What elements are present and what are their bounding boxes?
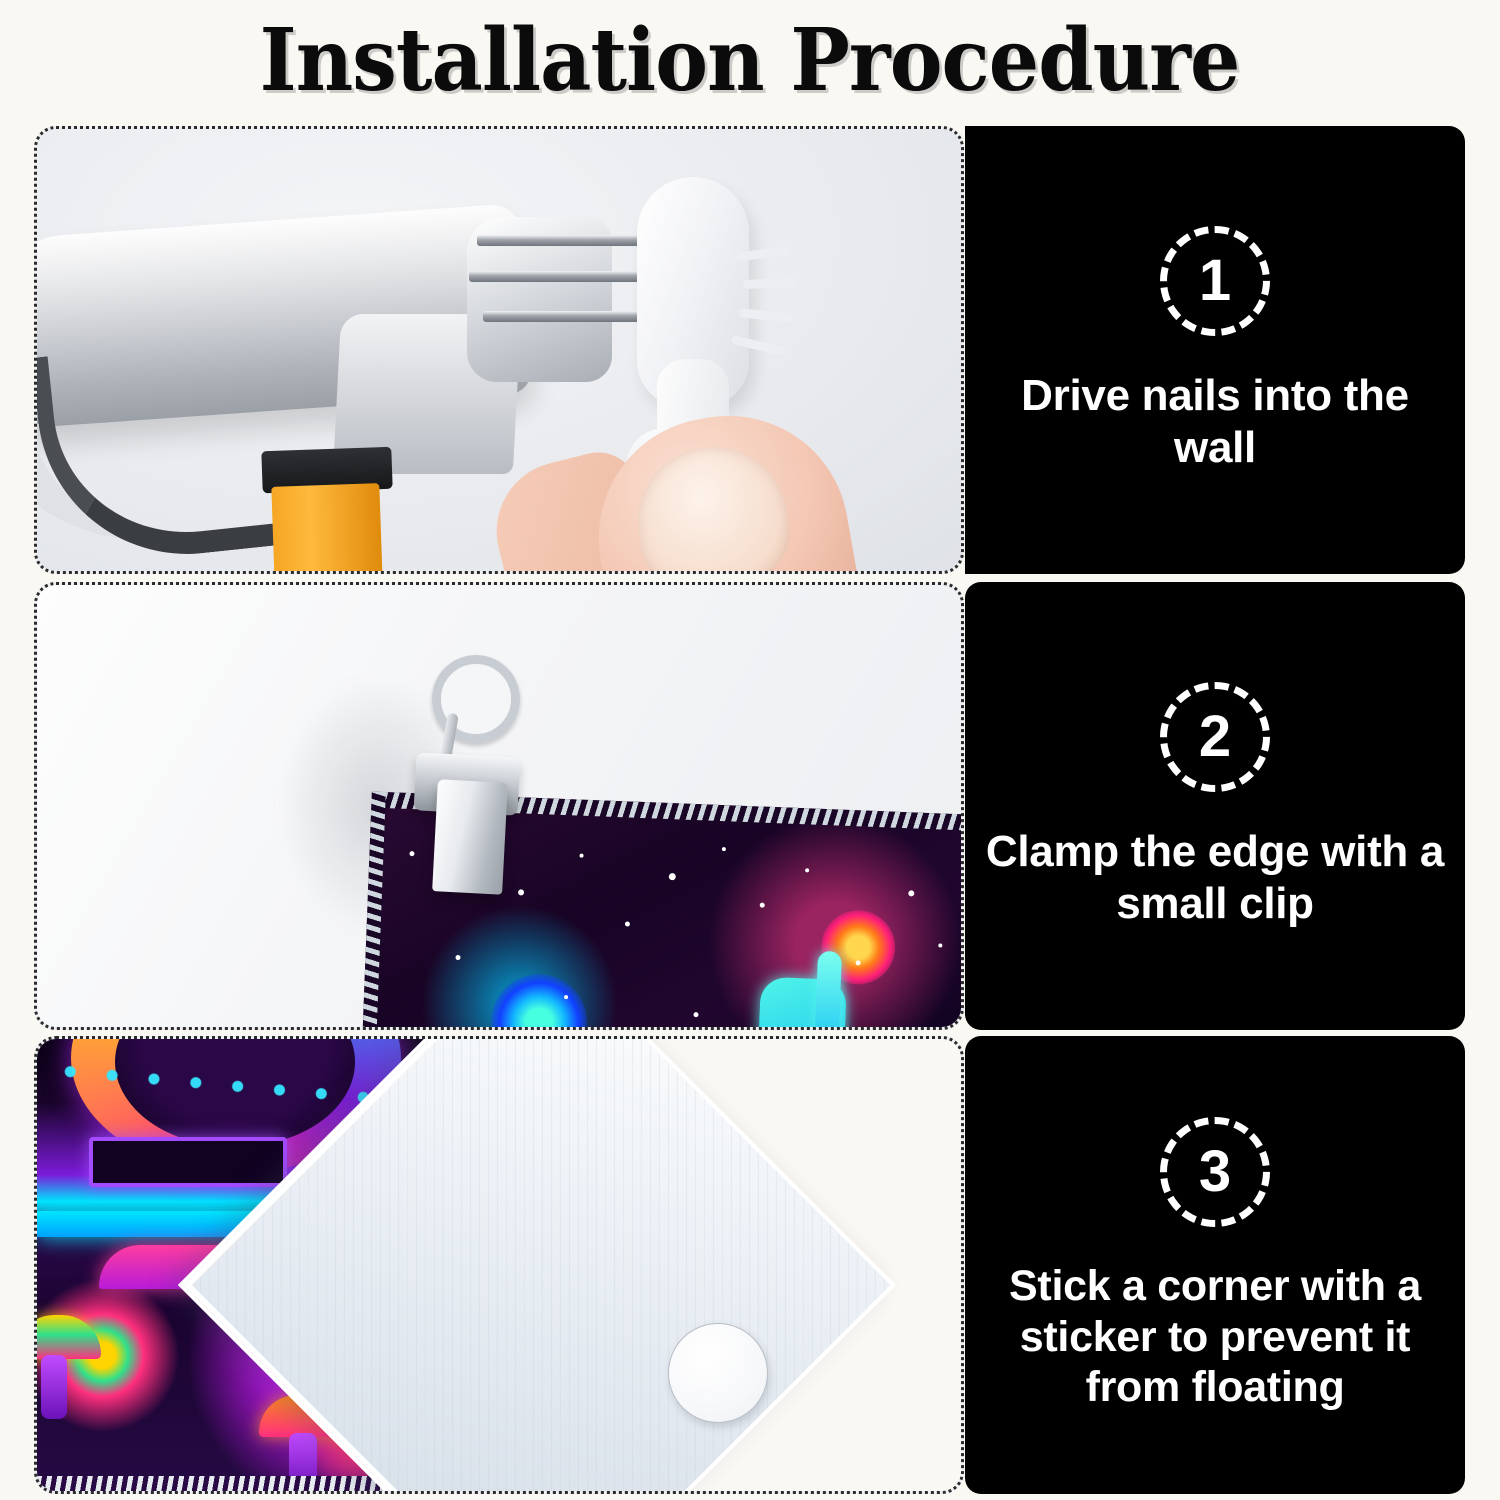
- nail-pin-1: [477, 235, 662, 246]
- step-2-photo: [34, 582, 964, 1030]
- star-speck: [409, 851, 414, 856]
- star-speck: [805, 868, 809, 872]
- hook-barb-2: [743, 278, 797, 289]
- star-speck: [722, 847, 726, 851]
- step-number-badge-3: 3: [1160, 1117, 1270, 1227]
- step-text-2: Clamp the edge with a small clip: [965, 826, 1465, 930]
- star-speck: [669, 873, 676, 880]
- installation-infographic: Installation Procedure: [0, 0, 1500, 1500]
- adhesive-sticker: [668, 1323, 768, 1423]
- step-text-3: Stick a corner with a sticker to prevent…: [965, 1261, 1465, 1413]
- mushroom-stem: [41, 1355, 67, 1419]
- step-3-photo: [34, 1036, 964, 1494]
- nail-pin-2: [469, 271, 664, 282]
- hammer-handle: [271, 483, 382, 574]
- page-title: Installation Procedure: [260, 10, 1240, 111]
- star-speck: [908, 890, 914, 896]
- neon-screen-panel: [89, 1137, 287, 1187]
- step-text-1: Drive nails into the wall: [965, 370, 1465, 474]
- star-speck: [579, 854, 583, 858]
- cyan-finger-graphic: [815, 951, 842, 1030]
- blue-glow-star: [489, 972, 589, 1030]
- page-title-bar: Installation Procedure: [0, 0, 1500, 120]
- mushroom-cap: [37, 1315, 101, 1359]
- step-number-badge-2: 2: [1160, 682, 1270, 792]
- star-speck: [455, 955, 460, 960]
- step-card-2: 2 Clamp the edge with a small clip: [965, 582, 1465, 1030]
- step-row-2: 2 Clamp the edge with a small clip: [0, 582, 1500, 1030]
- star-speck: [693, 1012, 698, 1017]
- step-1-photo: [34, 126, 964, 574]
- clip-jaw: [432, 779, 508, 895]
- step-row-3: 3 Stick a corner with a sticker to preve…: [0, 1036, 1500, 1494]
- star-speck: [938, 943, 942, 947]
- step-row-1: 1 Drive nails into the wall: [0, 126, 1500, 574]
- star-speck: [625, 921, 630, 926]
- step-number-badge-1: 1: [1160, 226, 1270, 336]
- step-card-3: 3 Stick a corner with a sticker to preve…: [965, 1036, 1465, 1494]
- star-speck: [518, 889, 524, 895]
- star-speck: [760, 903, 765, 908]
- step-card-1: 1 Drive nails into the wall: [965, 126, 1465, 574]
